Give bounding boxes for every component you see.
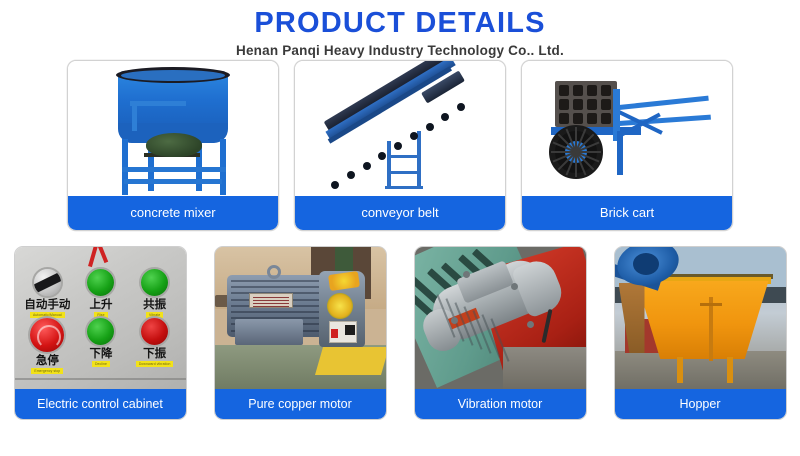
card-label-concrete-mixer: concrete mixer [68, 196, 278, 230]
page-header: PRODUCT DETAILS Henan Panqi Heavy Indust… [0, 0, 800, 59]
brick-hole [601, 85, 611, 96]
product-card-vibration-motor[interactable]: Vibration motor [414, 246, 587, 420]
conveyor-roller [410, 132, 418, 140]
nameplate-line [253, 300, 289, 301]
brick-hole [587, 99, 597, 110]
conveyor-roller [394, 142, 402, 150]
brick-hole [573, 99, 583, 110]
control-cell-4: 下降Decline [74, 318, 128, 374]
control-cell-0: 自动手动Automatic/Manual [21, 269, 75, 318]
brick-hole [601, 99, 611, 110]
conveyor-belt-illustration [325, 69, 475, 194]
brick-hole [587, 113, 597, 124]
red-mark-icon [88, 247, 98, 267]
control-cell-5: 下振Downward vibration [128, 318, 182, 374]
hopper-image [615, 247, 786, 391]
card-label-electric-control-cabinet: Electric control cabinet [15, 389, 186, 419]
card-label-vibration-motor: Vibration motor [415, 389, 586, 419]
conveyor-roller [426, 123, 434, 131]
card-label-pure-copper-motor: Pure copper motor [215, 389, 386, 419]
brick-hole [559, 99, 569, 110]
control-cell-3: 急停Emergency stop [21, 318, 75, 374]
vibration-motor-image [415, 247, 586, 391]
product-card-pure-copper-motor[interactable]: Pure copper motor [214, 246, 387, 420]
motor-bolt [463, 271, 470, 278]
push-button-2[interactable] [141, 269, 168, 296]
brick-hole [559, 113, 569, 124]
control-cabinet-panel: 自动手动Automatic/Manual上升Rise共振Vibrate急停Eme… [15, 247, 186, 391]
push-button-4[interactable] [87, 318, 114, 345]
brick-hole [587, 85, 597, 96]
product-card-electric-control-cabinet[interactable]: 自动手动Automatic/Manual上升Rise共振Vibrate急停Eme… [14, 246, 187, 420]
hopper-illustration [615, 247, 786, 391]
page-title: PRODUCT DETAILS [0, 8, 800, 38]
button-label-cn-2: 共振 [143, 298, 166, 311]
vibration-motor-illustration [415, 247, 586, 391]
motor-fin [231, 311, 321, 313]
card-label-hopper: Hopper [615, 389, 786, 419]
conveyor-roller [347, 171, 355, 179]
pure-copper-motor-image [215, 247, 386, 391]
conveyor-roller [331, 181, 339, 189]
button-label-en-3: Emergency stop [31, 368, 63, 374]
concrete-mixer-illustration [108, 67, 238, 195]
motor-fin [231, 280, 321, 282]
push-button-5[interactable] [141, 318, 168, 345]
conveyor-roller [378, 152, 386, 160]
motor-bolt [451, 317, 458, 324]
button-label-en-5: Downward vibration [136, 361, 174, 367]
conveyor-roller [363, 162, 371, 170]
product-card-concrete-mixer[interactable]: concrete mixer [67, 60, 279, 231]
button-label-en-4: Decline [92, 361, 110, 367]
electric-control-cabinet-image: 自动手动Automatic/Manual上升Rise共振Vibrate急停Eme… [15, 247, 186, 391]
control-button-grid: 自动手动Automatic/Manual上升Rise共振Vibrate急停Eme… [21, 269, 182, 373]
brick-hole [573, 85, 583, 96]
nameplate-line [253, 297, 289, 298]
bottom-product-row: 自动手动Automatic/Manual上升Rise共振Vibrate急停Eme… [0, 246, 800, 420]
brick-cart-illustration [543, 75, 711, 187]
control-cell-2: 共振Vibrate [128, 269, 182, 318]
selector-knob-0[interactable] [34, 269, 61, 296]
brick-cart-image [522, 61, 732, 198]
copper-motor-illustration [215, 247, 386, 391]
control-cell-1: 上升Rise [74, 269, 128, 318]
red-mark-icon-2 [97, 247, 107, 263]
brick-hole [601, 113, 611, 124]
button-label-cn-3: 急停 [36, 354, 59, 367]
button-label-cn-0: 自动手动 [24, 298, 70, 311]
conveyor-belt-image [295, 61, 505, 198]
top-product-row: concrete mixer conveyor belt [0, 60, 800, 231]
motor-bolt [527, 321, 534, 328]
nameplate-line [253, 303, 289, 304]
button-label-cn-4: 下降 [89, 347, 112, 360]
motor-bolt [511, 283, 518, 290]
motor-fin [231, 286, 321, 288]
product-card-conveyor-belt[interactable]: conveyor belt [294, 60, 506, 231]
product-card-brick-cart[interactable]: Brick cart [521, 60, 733, 231]
button-label-cn-1: 上升 [89, 298, 112, 311]
button-label-cn-5: 下振 [143, 347, 166, 360]
product-details-page: PRODUCT DETAILS Henan Panqi Heavy Indust… [0, 0, 800, 456]
product-card-hopper[interactable]: Hopper [614, 246, 787, 420]
brick-hole [559, 85, 569, 96]
nameplate-line [253, 306, 289, 307]
conveyor-roller [441, 113, 449, 121]
push-button-1[interactable] [87, 269, 114, 296]
company-subtitle: Henan Panqi Heavy Industry Technology Co… [0, 43, 800, 59]
conveyor-roller [457, 103, 465, 111]
card-label-conveyor-belt: conveyor belt [295, 196, 505, 230]
emergency-stop-3[interactable] [30, 318, 64, 352]
concrete-mixer-image [68, 61, 278, 198]
card-label-brick-cart: Brick cart [522, 196, 732, 230]
brick-hole [573, 113, 583, 124]
